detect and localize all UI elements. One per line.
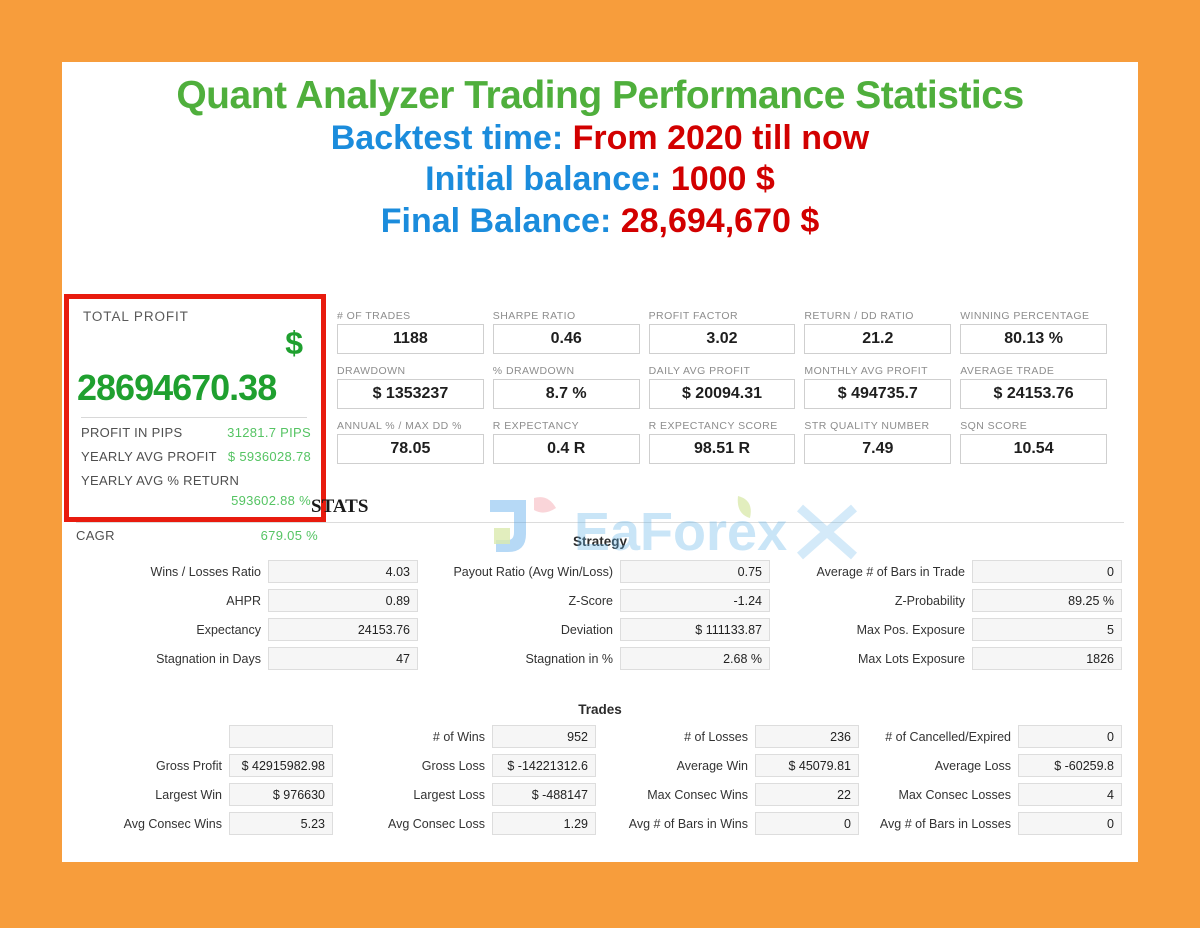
pair-ahpr: AHPR0.89: [80, 589, 418, 612]
pair-value-payout-ratio-avg-win-loss: 0.75: [620, 560, 770, 583]
cagr-row: CAGR 679.05 %: [76, 528, 326, 543]
yearly-avg-profit-value: $ 5936028.78: [228, 449, 311, 464]
stat-caption-drawdown: % DRAWDOWN: [493, 365, 640, 377]
pair-value-empty: [229, 725, 333, 748]
stat-caption-drawdown: DRAWDOWN: [337, 365, 484, 377]
pair-largest-loss: Largest Loss$ -488147: [343, 783, 596, 806]
stat-caption-monthly-avg-profit: MONTHLY AVG PROFIT: [804, 365, 951, 377]
pair-stagnation-in-days: Stagnation in Days47: [80, 647, 418, 670]
strategy-grid: Wins / Losses Ratio4.03Payout Ratio (Avg…: [80, 560, 1122, 670]
pair-label-gross-profit: Gross Profit: [80, 759, 222, 773]
initial-balance-value: 1000 $: [671, 160, 775, 198]
pair-label-avg-of-bars-in-wins: Avg # of Bars in Wins: [606, 817, 748, 831]
stat-cell-winning-percentage: WINNING PERCENTAGE80.13 %: [960, 310, 1107, 354]
stat-caption-profit-factor: PROFIT FACTOR: [649, 310, 796, 322]
report-card: Quant Analyzer Trading Performance Stati…: [62, 62, 1138, 862]
profit-in-pips-label: PROFIT IN PIPS: [81, 425, 182, 440]
stat-value-drawdown: $ 1353237: [337, 379, 484, 409]
pair-avg-of-bars-in-wins: Avg # of Bars in Wins0: [606, 812, 859, 835]
stat-cell-drawdown: % DRAWDOWN8.7 %: [493, 365, 640, 409]
trades-section-title: Trades: [62, 702, 1138, 717]
initial-balance-label: Initial balance:: [425, 160, 661, 198]
pair-value-stagnation-in-days: 47: [268, 647, 418, 670]
pair-value-max-consec-wins: 22: [755, 783, 859, 806]
stat-cell-str-quality-number: STR QUALITY NUMBER7.49: [804, 420, 951, 464]
pair-value-z-probability: 89.25 %: [972, 589, 1122, 612]
page-title: Quant Analyzer Trading Performance Stati…: [62, 74, 1138, 118]
pair-value-avg-of-bars-in-losses: 0: [1018, 812, 1122, 835]
pair-value-average-of-bars-in-trade: 0: [972, 560, 1122, 583]
trades-grid: # of Wins952# of Losses236# of Cancelled…: [80, 725, 1122, 835]
pair-value-largest-win: $ 976630: [229, 783, 333, 806]
yearly-avg-profit-row: YEARLY AVG PROFIT $ 5936028.78: [81, 449, 311, 464]
report-header: Quant Analyzer Trading Performance Stati…: [62, 62, 1138, 242]
cagr-value: 679.05 %: [261, 528, 326, 543]
pair-label-payout-ratio-avg-win-loss: Payout Ratio (Avg Win/Loss): [432, 565, 613, 579]
pair-label-of-cancelled-expired: # of Cancelled/Expired: [869, 730, 1011, 744]
pair-label-average-win: Average Win: [606, 759, 748, 773]
stat-cell-annual-max-dd: ANNUAL % / MAX DD %78.05: [337, 420, 484, 464]
pair-label-avg-consec-wins: Avg Consec Wins: [80, 817, 222, 831]
pair-max-pos-exposure: Max Pos. Exposure5: [784, 618, 1122, 641]
pair-value-largest-loss: $ -488147: [492, 783, 596, 806]
pair-value-of-losses: 236: [755, 725, 859, 748]
pair-label-wins-losses-ratio: Wins / Losses Ratio: [80, 565, 261, 579]
stat-value-profit-factor: 3.02: [649, 324, 796, 354]
pair-average-loss: Average Loss$ -60259.8: [869, 754, 1122, 777]
stat-value-sharpe-ratio: 0.46: [493, 324, 640, 354]
stat-value-winning-percentage: 80.13 %: [960, 324, 1107, 354]
stat-value-annual-max-dd: 78.05: [337, 434, 484, 464]
pair-value-average-loss: $ -60259.8: [1018, 754, 1122, 777]
page-root: Quant Analyzer Trading Performance Stati…: [0, 0, 1200, 928]
stat-value-monthly-avg-profit: $ 494735.7: [804, 379, 951, 409]
pair-label-z-score: Z-Score: [432, 594, 613, 608]
stat-caption-r-expectancy-score: R EXPECTANCY SCORE: [649, 420, 796, 432]
yearly-avg-return-label: YEARLY AVG % RETURN: [81, 473, 239, 488]
pair-z-probability: Z-Probability89.25 %: [784, 589, 1122, 612]
stat-value-average-trade: $ 24153.76: [960, 379, 1107, 409]
yearly-avg-return-row: YEARLY AVG % RETURN: [81, 473, 311, 488]
stat-value-of-trades: 1188: [337, 324, 484, 354]
pair-empty: [80, 725, 333, 748]
stat-value-str-quality-number: 7.49: [804, 434, 951, 464]
pair-max-consec-losses: Max Consec Losses4: [869, 783, 1122, 806]
pair-label-avg-of-bars-in-losses: Avg # of Bars in Losses: [869, 817, 1011, 831]
pair-value-max-consec-losses: 4: [1018, 783, 1122, 806]
total-profit-value: 28694670.38: [77, 367, 276, 409]
pair-average-of-bars-in-trade: Average # of Bars in Trade0: [784, 560, 1122, 583]
watermark-text: EaForex: [574, 502, 787, 562]
cagr-label: CAGR: [76, 528, 115, 543]
pair-value-deviation: $ 111133.87: [620, 618, 770, 641]
stat-caption-sharpe-ratio: SHARPE RATIO: [493, 310, 640, 322]
stat-caption-sqn-score: SQN SCORE: [960, 420, 1107, 432]
pair-label-stagnation-in-days: Stagnation in Days: [80, 652, 261, 666]
stat-cell-r-expectancy: R EXPECTANCY0.4 R: [493, 420, 640, 464]
pair-value-average-win: $ 45079.81: [755, 754, 859, 777]
yearly-avg-return-value-row: 593602.88 %: [81, 493, 311, 508]
pair-stagnation-in: Stagnation in %2.68 %: [432, 647, 770, 670]
stat-cell-average-trade: AVERAGE TRADE$ 24153.76: [960, 365, 1107, 409]
pair-value-of-cancelled-expired: 0: [1018, 725, 1122, 748]
pair-label-of-wins: # of Wins: [343, 730, 485, 744]
stat-caption-of-trades: # OF TRADES: [337, 310, 484, 322]
pair-value-avg-of-bars-in-wins: 0: [755, 812, 859, 835]
section-divider: [76, 522, 1124, 523]
stat-value-r-expectancy: 0.4 R: [493, 434, 640, 464]
pair-label-average-loss: Average Loss: [869, 759, 1011, 773]
pair-max-consec-wins: Max Consec Wins22: [606, 783, 859, 806]
pair-value-gross-profit: $ 42915982.98: [229, 754, 333, 777]
stat-cell-r-expectancy-score: R EXPECTANCY SCORE98.51 R: [649, 420, 796, 464]
pair-label-expectancy: Expectancy: [80, 623, 261, 637]
profit-in-pips-value: 31281.7 PIPS: [227, 425, 311, 440]
stat-caption-annual-max-dd: ANNUAL % / MAX DD %: [337, 420, 484, 432]
stat-cell-profit-factor: PROFIT FACTOR3.02: [649, 310, 796, 354]
final-balance-label: Final Balance:: [381, 202, 612, 240]
pair-value-ahpr: 0.89: [268, 589, 418, 612]
stat-cell-drawdown: DRAWDOWN$ 1353237: [337, 365, 484, 409]
stat-cell-sqn-score: SQN SCORE10.54: [960, 420, 1107, 464]
pair-label-z-probability: Z-Probability: [784, 594, 965, 608]
total-profit-caption: TOTAL PROFIT: [83, 309, 189, 324]
pair-max-lots-exposure: Max Lots Exposure1826: [784, 647, 1122, 670]
stat-value-drawdown: 8.7 %: [493, 379, 640, 409]
stat-caption-return-dd-ratio: RETURN / DD RATIO: [804, 310, 951, 322]
pair-value-wins-losses-ratio: 4.03: [268, 560, 418, 583]
pair-value-stagnation-in: 2.68 %: [620, 647, 770, 670]
pair-label-stagnation-in: Stagnation in %: [432, 652, 613, 666]
total-profit-divider: [81, 417, 307, 418]
pair-avg-consec-loss: Avg Consec Loss1.29: [343, 812, 596, 835]
pair-value-avg-consec-wins: 5.23: [229, 812, 333, 835]
stat-cell-daily-avg-profit: DAILY AVG PROFIT$ 20094.31: [649, 365, 796, 409]
stat-cell-sharpe-ratio: SHARPE RATIO0.46: [493, 310, 640, 354]
pair-value-max-lots-exposure: 1826: [972, 647, 1122, 670]
summary-stat-grid: # OF TRADES1188SHARPE RATIO0.46PROFIT FA…: [337, 310, 1107, 464]
pair-label-ahpr: AHPR: [80, 594, 261, 608]
yearly-avg-profit-label: YEARLY AVG PROFIT: [81, 449, 217, 464]
pair-z-score: Z-Score-1.24: [432, 589, 770, 612]
pair-label-max-consec-losses: Max Consec Losses: [869, 788, 1011, 802]
backtest-time-value: From 2020 till now: [573, 119, 870, 157]
pair-gross-loss: Gross Loss$ -14221312.6: [343, 754, 596, 777]
stat-cell-return-dd-ratio: RETURN / DD RATIO21.2: [804, 310, 951, 354]
pair-label-largest-loss: Largest Loss: [343, 788, 485, 802]
pair-payout-ratio-avg-win-loss: Payout Ratio (Avg Win/Loss)0.75: [432, 560, 770, 583]
stat-value-sqn-score: 10.54: [960, 434, 1107, 464]
pair-label-gross-loss: Gross Loss: [343, 759, 485, 773]
backtest-time-label: Backtest time:: [331, 119, 563, 157]
pair-label-max-consec-wins: Max Consec Wins: [606, 788, 748, 802]
pair-value-expectancy: 24153.76: [268, 618, 418, 641]
pair-value-z-score: -1.24: [620, 589, 770, 612]
pair-label-max-pos-exposure: Max Pos. Exposure: [784, 623, 965, 637]
header-line-final-balance: Final Balance: 28,694,670 $: [62, 201, 1138, 242]
stat-value-return-dd-ratio: 21.2: [804, 324, 951, 354]
pair-label-largest-win: Largest Win: [80, 788, 222, 802]
pair-average-win: Average Win$ 45079.81: [606, 754, 859, 777]
pair-of-losses: # of Losses236: [606, 725, 859, 748]
stat-caption-average-trade: AVERAGE TRADE: [960, 365, 1107, 377]
pair-value-avg-consec-loss: 1.29: [492, 812, 596, 835]
pair-expectancy: Expectancy24153.76: [80, 618, 418, 641]
currency-symbol: $: [285, 325, 303, 362]
pair-value-of-wins: 952: [492, 725, 596, 748]
stat-caption-str-quality-number: STR QUALITY NUMBER: [804, 420, 951, 432]
stats-overlay-label: STATS: [311, 496, 368, 518]
header-line-initial-balance: Initial balance: 1000 $: [62, 159, 1138, 200]
profit-in-pips-row: PROFIT IN PIPS 31281.7 PIPS: [81, 425, 311, 440]
stat-value-r-expectancy-score: 98.51 R: [649, 434, 796, 464]
pair-value-gross-loss: $ -14221312.6: [492, 754, 596, 777]
pair-avg-of-bars-in-losses: Avg # of Bars in Losses0: [869, 812, 1122, 835]
pair-wins-losses-ratio: Wins / Losses Ratio4.03: [80, 560, 418, 583]
stat-caption-r-expectancy: R EXPECTANCY: [493, 420, 640, 432]
pair-value-max-pos-exposure: 5: [972, 618, 1122, 641]
pair-label-avg-consec-loss: Avg Consec Loss: [343, 817, 485, 831]
total-profit-box: TOTAL PROFIT $ 28694670.38 PROFIT IN PIP…: [64, 294, 326, 522]
yearly-avg-return-value: 593602.88 %: [231, 493, 311, 508]
pair-label-deviation: Deviation: [432, 623, 613, 637]
final-balance-value: 28,694,670 $: [621, 202, 820, 240]
stat-cell-of-trades: # OF TRADES1188: [337, 310, 484, 354]
pair-avg-consec-wins: Avg Consec Wins5.23: [80, 812, 333, 835]
pair-largest-win: Largest Win$ 976630: [80, 783, 333, 806]
pair-label-max-lots-exposure: Max Lots Exposure: [784, 652, 965, 666]
stat-cell-monthly-avg-profit: MONTHLY AVG PROFIT$ 494735.7: [804, 365, 951, 409]
header-line-backtest-time: Backtest time: From 2020 till now: [62, 118, 1138, 159]
pair-gross-profit: Gross Profit$ 42915982.98: [80, 754, 333, 777]
pair-of-cancelled-expired: # of Cancelled/Expired0: [869, 725, 1122, 748]
stat-caption-winning-percentage: WINNING PERCENTAGE: [960, 310, 1107, 322]
stat-caption-daily-avg-profit: DAILY AVG PROFIT: [649, 365, 796, 377]
stat-value-daily-avg-profit: $ 20094.31: [649, 379, 796, 409]
pair-deviation: Deviation$ 111133.87: [432, 618, 770, 641]
pair-label-average-of-bars-in-trade: Average # of Bars in Trade: [784, 565, 965, 579]
pair-of-wins: # of Wins952: [343, 725, 596, 748]
pair-label-of-losses: # of Losses: [606, 730, 748, 744]
